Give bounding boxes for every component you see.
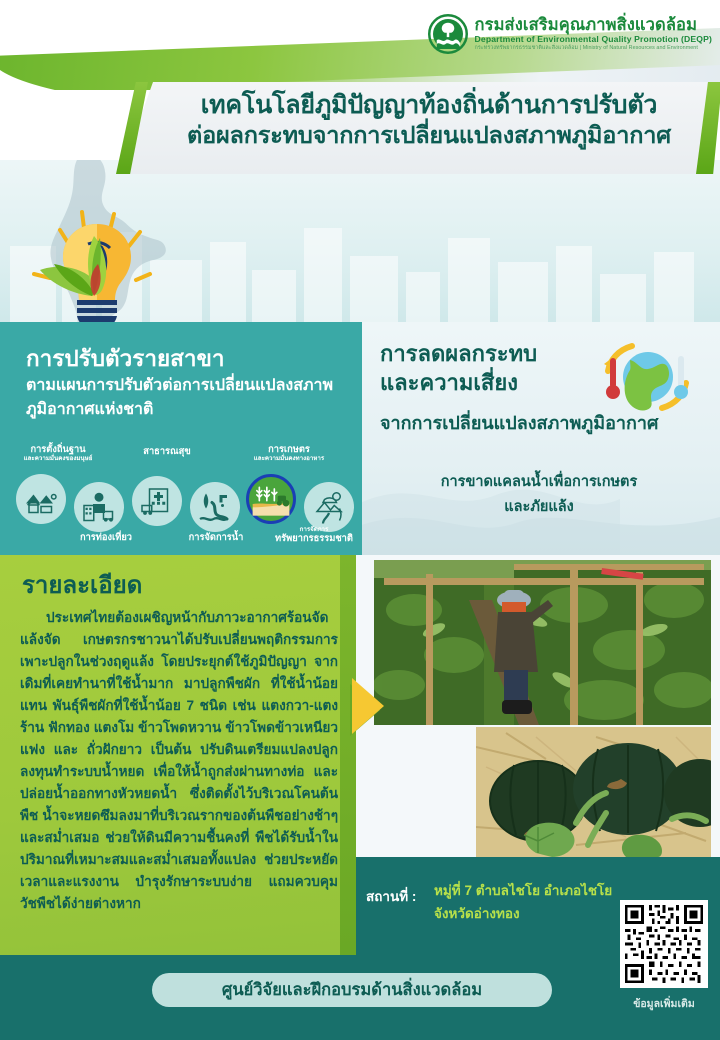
right-triangle-arrow-icon bbox=[352, 678, 384, 734]
water-management-faucet-icon bbox=[197, 489, 233, 525]
lightbulb-leaf-map-pin-icon bbox=[22, 208, 172, 322]
research-center-pill: ศูนย์วิจัยและฝึกอบรมด้านสิ่งแวดล้อม bbox=[152, 973, 552, 1007]
sector-icon-natural-resources[interactable] bbox=[304, 482, 354, 532]
adaptation-subheading: ตามแผนการปรับตัวต่อการเปลี่ยนแปลงสภาพภูม… bbox=[26, 374, 346, 422]
dark-green-pumpkins-on-straw-photo bbox=[476, 727, 711, 857]
mitigation-heading: การลดผลกระทบ และความเสี่ยง bbox=[380, 340, 537, 397]
page-footer: ศูนย์วิจัยและฝึกอบรมด้านสิ่งแวดล้อม bbox=[0, 955, 720, 1040]
agriculture-tractor-wheat-icon bbox=[251, 479, 291, 519]
sector-icon-tourism[interactable] bbox=[74, 482, 124, 532]
page-title: เทคโนโลยีภูมิปัญญาท้องถิ่นด้านการปรับตัว… bbox=[120, 82, 720, 174]
sector-label-agriculture: การเกษตร และความมั่นคงทางอาหาร bbox=[234, 444, 344, 462]
sector-label-water-management: การจัดการน้ำ bbox=[170, 532, 262, 543]
deqp-logo: กรมส่งเสริมคุณภาพสิ่งแวดล้อม Department … bbox=[428, 14, 712, 54]
deqp-tree-water-seal-icon bbox=[428, 14, 468, 54]
photo-pumpkins bbox=[476, 727, 711, 857]
ministry-line: กระทรวงทรัพยากรธรรมชาติและสิ่งแวดล้อม | … bbox=[475, 46, 712, 52]
location-line-1: หมู่ที่ 7 ตำบลไชโย อำเภอไชโย bbox=[434, 879, 612, 901]
qr-code-box[interactable] bbox=[620, 900, 708, 988]
org-name-th: กรมส่งเสริมคุณภาพสิ่งแวดล้อม bbox=[475, 17, 712, 34]
settlement-houses-icon bbox=[23, 481, 59, 517]
title-line-1: เทคโนโลยีภูมิปัญญาท้องถิ่นด้านการปรับตัว bbox=[154, 90, 704, 121]
sector-icon-public-health[interactable] bbox=[132, 476, 182, 526]
farmer-in-trellised-vegetable-field-photo bbox=[374, 560, 711, 725]
details-right-edge bbox=[340, 555, 356, 955]
issue-line-2: และภัยแล้ง bbox=[380, 495, 698, 520]
blue-thermometer-icon bbox=[674, 356, 688, 399]
panel-divider-accent bbox=[356, 322, 362, 555]
details-body: ประเทศไทยต้องเผชิญหน้ากับภาวะอากาศร้อนจั… bbox=[20, 607, 338, 915]
poster-root: กรมส่งเสริมคุณภาพสิ่งแวดล้อม Department … bbox=[0, 0, 720, 1040]
title-text: เทคโนโลยีภูมิปัญญาท้องถิ่นด้านการปรับตัว… bbox=[154, 90, 704, 149]
mitigation-panel: การลดผลกระทบ และความเสี่ยง จากการเปลี่ยน… bbox=[356, 322, 720, 555]
research-center-name: ศูนย์วิจัยและฝึกอบรมด้านสิ่งแวดล้อม bbox=[222, 977, 482, 1003]
mitigation-heading-line2: และความเสี่ยง bbox=[380, 369, 537, 398]
sector-icon-water-management[interactable] bbox=[190, 482, 240, 532]
deqp-logo-text: กรมส่งเสริมคุณภาพสิ่งแวดล้อม Department … bbox=[475, 17, 712, 52]
adaptation-heading: การปรับตัวรายสาขา bbox=[26, 340, 225, 376]
qr-code-icon bbox=[625, 905, 703, 983]
sector-icon-settlement[interactable] bbox=[16, 474, 66, 524]
globe-thermometer-climate-icon bbox=[590, 334, 702, 420]
mitigation-heading-line1: การลดผลกระทบ bbox=[380, 340, 537, 369]
title-line-2: ต่อผลกระทบจากการเปลี่ยนแปลงสภาพภูมิอากาศ bbox=[154, 121, 704, 150]
sector-label-public-health: สาธารณสุข bbox=[126, 446, 208, 457]
sector-label-natural-resources: การจัดการ ทรัพยากรธรรมชาติ bbox=[270, 526, 358, 544]
details-panel: รายละเอียด ประเทศไทยต้องเผชิญหน้ากับภาวะ… bbox=[0, 555, 356, 955]
qr-caption: ข้อมูลเพิ่มเติม bbox=[614, 995, 714, 1012]
sector-label-settlement: การตั้งถิ่นฐาน และความมั่นคงของมนุษย์ bbox=[12, 444, 104, 462]
sector-label-tourism: การท่องเที่ยว bbox=[60, 532, 152, 543]
sector-icons-row: การตั้งถิ่นฐาน และความมั่นคงของมนุษย์ สา… bbox=[8, 444, 354, 552]
mitigation-issue: การขาดแคลนน้ำเพื่อการเกษตร และภัยแล้ง bbox=[380, 470, 698, 521]
photo-farmer-field bbox=[374, 560, 711, 725]
location-label: สถานที่ : bbox=[366, 885, 416, 907]
natural-resources-mountain-icon bbox=[311, 489, 347, 525]
page-header: กรมส่งเสริมคุณภาพสิ่งแวดล้อม Department … bbox=[0, 0, 720, 90]
media-panel: สถานที่ : หมู่ที่ 7 ตำบลไชโย อำเภอไชโย จ… bbox=[356, 555, 720, 955]
org-name-en: Department of Environmental Quality Prom… bbox=[475, 35, 712, 44]
issue-line-1: การขาดแคลนน้ำเพื่อการเกษตร bbox=[380, 470, 698, 495]
location-line-2: จังหวัดอ่างทอง bbox=[434, 902, 520, 924]
hero-band: ชื่อเทคโนโลยี : “ปลูกพืชน้ำน้อย” สู้ภัยแ… bbox=[0, 160, 720, 322]
details-heading: รายละเอียด bbox=[22, 565, 142, 604]
public-health-hospital-icon bbox=[139, 483, 175, 519]
tourism-city-bus-icon bbox=[81, 489, 117, 525]
sector-icon-agriculture[interactable] bbox=[246, 474, 296, 524]
adaptation-sectors-panel: การปรับตัวรายสาขา ตามแผนการปรับตัวต่อการ… bbox=[0, 322, 356, 555]
